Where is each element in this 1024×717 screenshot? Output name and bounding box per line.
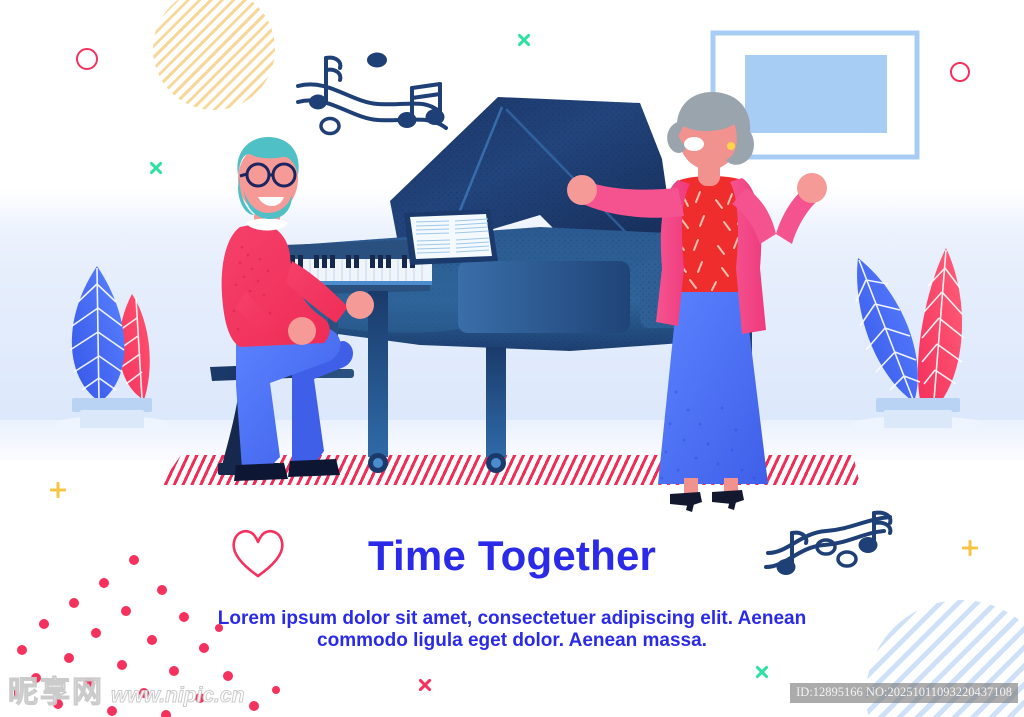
x-mark-green-left-icon [148, 160, 164, 176]
plant-left [52, 222, 182, 432]
plant-right [842, 232, 994, 430]
x-mark-green-top-icon [516, 32, 532, 48]
character-man-pianist [196, 135, 416, 485]
x-mark-green-bottom-icon [754, 664, 770, 680]
page-title: Time Together [0, 532, 1024, 580]
sheet-music [404, 209, 498, 265]
illustration-canvas: Time Together Lorem ipsum dolor sit amet… [0, 0, 1024, 717]
watermark-id: ID:12895166 NO:20251011093220437108 [790, 683, 1018, 703]
watermark-site-cn: 昵享网 [8, 676, 104, 709]
watermark-site: 昵享网www.nipic.cn [8, 667, 244, 711]
x-mark-pink-bottom-icon [417, 677, 433, 693]
circle-outline-pink-right-icon [950, 62, 970, 82]
plus-yellow-left-icon [50, 482, 66, 498]
character-woman-singer [566, 92, 856, 520]
page-subtitle-line-2: commodo ligula eget dolor. Aenean massa. [0, 627, 1024, 655]
circle-outline-pink-left-icon [76, 48, 98, 70]
watermark-site-url: www.nipic.cn [111, 684, 244, 707]
